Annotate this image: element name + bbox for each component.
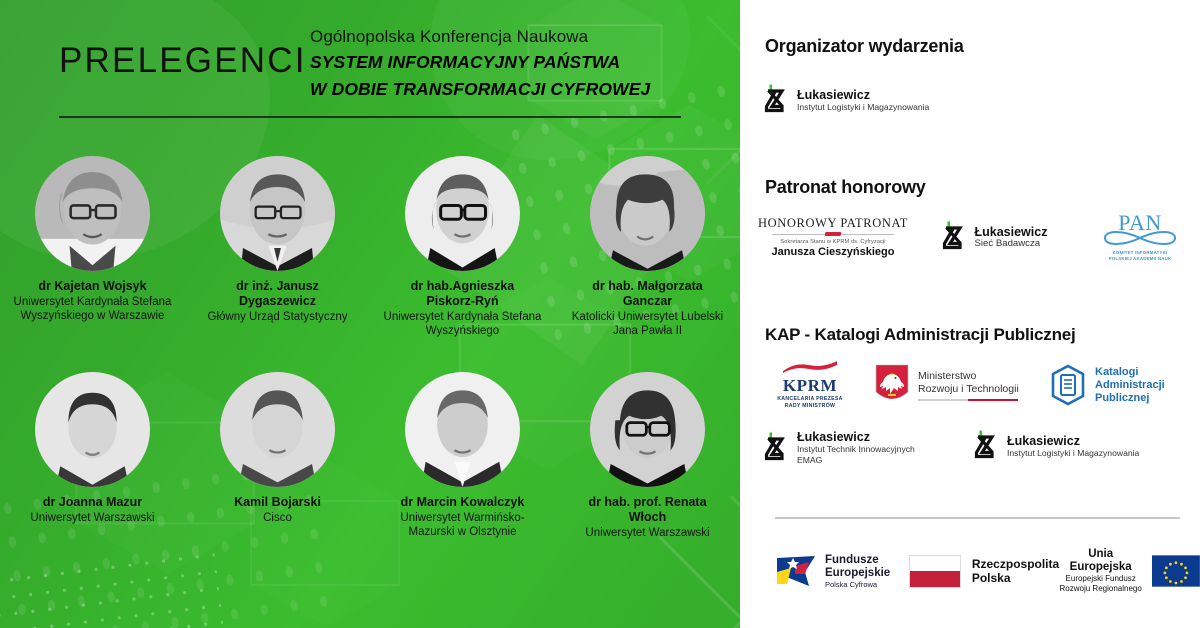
speaker-affiliation: Cisco [185, 511, 370, 525]
lukasiewicz-text: Łukasiewicz Sieć Badawcza [975, 225, 1048, 250]
lukasiewicz-icon [970, 430, 1000, 462]
kap-section-title: KAP - Katalogi Administracji Publicznej [765, 325, 1076, 345]
speaker-name: dr Joanna Mazur [0, 495, 185, 510]
lukasiewicz-name: Łukasiewicz [1007, 434, 1139, 448]
lukasiewicz-ilim-logo: Łukasiewicz Instytut Logistyki i Magazyn… [970, 430, 1185, 462]
kprm-subtitle: KANCELARIA PREZESA RADY MINISTRÓW [760, 396, 860, 410]
sponsors-panel: Organizator wydarzenia Łukasiewicz Insty… [740, 0, 1200, 628]
kap-logos-row: KPRM KANCELARIA PREZESA RADY MINISTRÓW M… [760, 360, 1185, 410]
avatar [405, 156, 520, 271]
kprm-acronym: KPRM [760, 376, 860, 396]
speaker-name: dr hab. prof. Renata Włoch [555, 495, 740, 525]
speaker-affiliation: Uniwersytet Warmińsko-Mazurski w Olsztyn… [370, 511, 555, 539]
lukasiewicz-icon [938, 221, 968, 253]
unia-line1: Europejski Fundusz [1059, 574, 1142, 584]
unia-title: Unia Europejska [1059, 548, 1142, 574]
kap-line3: Publicznej [1095, 392, 1165, 405]
portrait-illustration [405, 156, 520, 271]
kap-lukasiewicz-row: Łukasiewicz Instytut Technik Innowacyjny… [760, 430, 1185, 465]
speaker-name: Kamil Bojarski [185, 495, 370, 510]
ministry-logo: Ministerstwo Rozwoju i Technologii [875, 364, 1035, 406]
speakers-panel: PRELEGENCI Ogólnopolska Konferencja Nauk… [0, 0, 740, 628]
unia-text: Unia Europejska Europejski Fundusz Rozwo… [1059, 548, 1142, 594]
speaker-name: dr inż. Janusz Dygaszewicz [185, 279, 370, 309]
honorary-patronage-title: HONOROWY PATRONAT [758, 216, 908, 231]
flag-white-stripe [910, 556, 960, 572]
kap-line1: Katalogi [1095, 366, 1165, 379]
polish-flag-ribbon-icon [779, 360, 841, 374]
portrait-illustration [590, 372, 705, 487]
speaker-card: Kamil Bojarski Cisco [185, 338, 370, 540]
lukasiewicz-icon [760, 432, 790, 464]
speaker-card: dr hab. Małgorzata Ganczar Katolicki Uni… [555, 142, 740, 338]
speaker-card: dr Kajetan Wojsyk Uniwersytet Kardynała … [0, 142, 185, 338]
unia-europejska-logo: Unia Europejska Europejski Fundusz Rozwo… [1059, 548, 1200, 594]
lukasiewicz-icon [760, 84, 790, 116]
kprm-logo: KPRM KANCELARIA PREZESA RADY MINISTRÓW [760, 360, 860, 410]
portrait-illustration [220, 156, 335, 271]
fundusze-line1: Fundusze [825, 554, 890, 567]
speaker-affiliation: Uniwersytet Kardynała Stefana Wyszyńskie… [370, 310, 555, 338]
portrait-illustration [220, 372, 335, 487]
header-divider [59, 116, 681, 118]
speaker-card: dr inż. Janusz Dygaszewicz Główny Urząd … [185, 142, 370, 338]
rzeczpospolita-line2: Polska [972, 571, 1059, 585]
speaker-affiliation: Uniwersytet Warszawski [555, 526, 740, 540]
conference-label: Ogólnopolska Konferencja Naukowa [310, 27, 588, 47]
speaker-card: dr Marcin Kowalczyk Uniwersytet Warmińsk… [370, 338, 555, 540]
portrait-illustration [35, 372, 150, 487]
speaker-name: dr hab.Agnieszka Piskorz-Ryń [370, 279, 555, 309]
ministry-underline [918, 399, 1018, 401]
lukasiewicz-text: Łukasiewicz Instytut Logistyki i Magazyn… [1007, 434, 1139, 459]
lukasiewicz-emag-logo: Łukasiewicz Instytut Technik Innowacyjny… [760, 430, 970, 465]
patronage-logos: HONOROWY PATRONAT Sekretarza Stanu w KPR… [758, 212, 1183, 262]
lukasiewicz-logo: Łukasiewicz Instytut Logistyki i Magazyn… [760, 84, 929, 116]
lukasiewicz-network-sub: Sieć Badawcza [975, 239, 1048, 250]
speaker-card: dr Joanna Mazur Uniwersytet Warszawski [0, 338, 185, 540]
lukasiewicz-text: Łukasiewicz Instytut Logistyki i Magazyn… [797, 88, 929, 113]
ministry-line1: Ministerstwo [918, 370, 1019, 383]
pan-subtitle: KOMITET INFORMATYKI POLSKIEJ AKADEMII NA… [1097, 250, 1183, 262]
lukasiewicz-name: Łukasiewicz [975, 225, 1048, 239]
polish-eagle-emblem-icon [875, 364, 909, 406]
fundusze-europejskie-logo: Fundusze Europejskie Polska Cyfrowa [775, 554, 909, 589]
fundusze-europejskie-icon [775, 554, 817, 588]
lukasiewicz-name: Łukasiewicz [797, 430, 915, 444]
footer-divider [775, 517, 1180, 519]
lukasiewicz-text: Łukasiewicz Instytut Technik Innowacyjny… [797, 430, 915, 465]
kap-logo: Katalogi Administracji Publicznej [1050, 364, 1185, 406]
kap-text: Katalogi Administracji Publicznej [1095, 366, 1165, 405]
lukasiewicz-institute: Instytut Logistyki i Magazynowania [797, 102, 929, 113]
unia-line2: Rozwoju Regionalnego [1059, 584, 1142, 594]
eu-flag-icon [1152, 554, 1200, 588]
portrait-illustration [590, 156, 705, 271]
speaker-affiliation: Główny Urząd Statystyczny [185, 310, 370, 324]
ministry-text: Ministerstwo Rozwoju i Technologii [918, 370, 1019, 401]
conference-title-line1: SYSTEM INFORMACYJNY PAŃSTWA [310, 52, 620, 73]
patronage-section-title: Patronat honorowy [765, 177, 926, 198]
fundusze-text: Fundusze Europejskie Polska Cyfrowa [825, 554, 890, 589]
fundusze-sub: Polska Cyfrowa [825, 580, 890, 589]
honorary-patronage-name: Janusza Cieszyńskiego [758, 246, 908, 258]
avatar [35, 372, 150, 487]
kap-line2: Administracji [1095, 379, 1165, 392]
speaker-name: dr hab. Małgorzata Ganczar [555, 279, 740, 309]
avatar [220, 156, 335, 271]
poster-header: PRELEGENCI Ogólnopolska Konferencja Nauk… [0, 0, 740, 132]
avatar [405, 372, 520, 487]
organizer-logo: Łukasiewicz Instytut Logistyki i Magazyn… [760, 84, 929, 116]
avatar [590, 156, 705, 271]
poster-root: PRELEGENCI Ogólnopolska Konferencja Nauk… [0, 0, 1200, 628]
speaker-card: dr hab.Agnieszka Piskorz-Ryń Uniwersytet… [370, 142, 555, 338]
pan-logo: PAN KOMITET INFORMATYKI POLSKIEJ AKADEMI… [1097, 212, 1183, 262]
speaker-affiliation: Uniwersytet Kardynała Stefana Wyszyńskie… [0, 295, 185, 323]
avatar [590, 372, 705, 487]
portrait-illustration [405, 372, 520, 487]
honorary-patronage-logo: HONOROWY PATRONAT Sekretarza Stanu w KPR… [758, 216, 908, 258]
flag-red-stripe [910, 571, 960, 587]
lukasiewicz-name: Łukasiewicz [797, 88, 929, 102]
rzeczpospolita-line1: Rzeczpospolita [972, 557, 1059, 571]
speakers-grid: dr Kajetan Wojsyk Uniwersytet Kardynała … [0, 142, 740, 540]
ministry-line2: Rozwoju i Technologii [918, 383, 1019, 396]
lukasiewicz-ilim-sub: Instytut Logistyki i Magazynowania [1007, 448, 1139, 459]
rzeczpospolita-text: Rzeczpospolita Polska [972, 557, 1059, 585]
speaker-name: dr Marcin Kowalczyk [370, 495, 555, 510]
polish-flag-accent-icon [825, 232, 842, 236]
page-title: PRELEGENCI [59, 41, 307, 81]
portrait-illustration [35, 156, 150, 271]
conference-title-line2: W DOBIE TRANSFORMACJI CYFROWEJ [310, 79, 650, 100]
kap-hexagon-document-icon [1050, 364, 1086, 406]
speaker-affiliation: Katolicki Uniwersytet Lubelski Jana Pawł… [555, 310, 740, 338]
speaker-card: dr hab. prof. Renata Włoch Uniwersytet W… [555, 338, 740, 540]
lukasiewicz-emag-sub: Instytut Technik Innowacyjnych EMAG [797, 444, 915, 465]
dot-grid-decoration [0, 546, 225, 628]
honorary-patronage-subtitle: Sekretarza Stanu w KPRM ds. Cyfryzacji [758, 239, 908, 245]
avatar [220, 372, 335, 487]
speaker-affiliation: Uniwersytet Warszawski [0, 511, 185, 525]
rzeczpospolita-polska-logo: Rzeczpospolita Polska [909, 555, 1059, 588]
speaker-name: dr Kajetan Wojsyk [0, 279, 185, 294]
polish-flag-icon [909, 555, 961, 588]
avatar [35, 156, 150, 271]
lukasiewicz-network-logo: Łukasiewicz Sieć Badawcza [938, 221, 1068, 253]
chevron-decoration [575, 535, 740, 628]
fundusze-line2: Europejskie [825, 567, 890, 580]
eu-funding-bar: Fundusze Europejskie Polska Cyfrowa Rzec… [775, 548, 1200, 594]
organizer-section-title: Organizator wydarzenia [765, 36, 964, 57]
